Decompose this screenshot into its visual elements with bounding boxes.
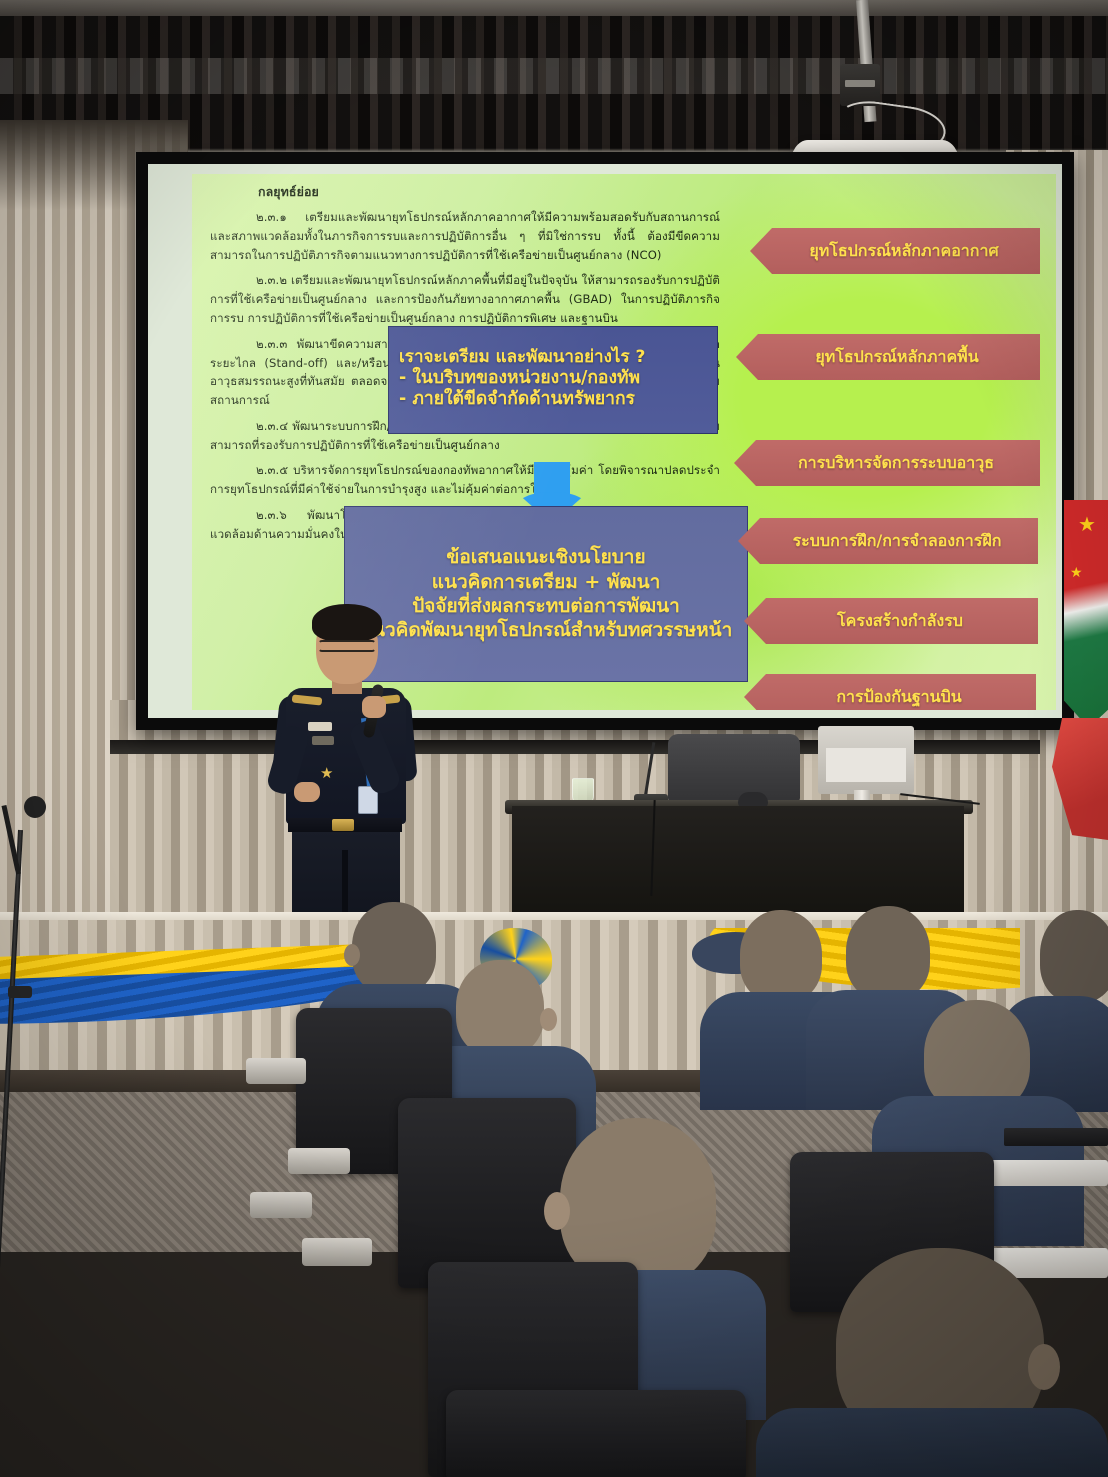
chair-armrest [288, 1148, 350, 1174]
audience-head [352, 902, 436, 994]
audience-desk-edge [1004, 1128, 1108, 1146]
ceiling-curtain-band [0, 58, 1108, 94]
presenter-rank-insignia [308, 722, 332, 731]
photo-scene: EPSON กลยุทธ์ย่อย ๒.๓.๑ เตรียมและพัฒนายุ… [0, 0, 1108, 1477]
audience-ear [1028, 1344, 1060, 1390]
presenter-mic-hand [362, 696, 386, 718]
callout-policy-line: ข้อเสนอแนะเชิงนโยบาย [446, 545, 645, 569]
audience-ear [540, 1008, 557, 1031]
slide-paragraph: ๒.๓.๒ เตรียมและพัฒนายุทโธปกรณ์หลักภาคพื้… [210, 271, 720, 327]
slide-banner-airbase-defense: การป้องกันฐานบิน [744, 674, 1036, 710]
chair-armrest [250, 1192, 312, 1218]
audience-head [456, 960, 544, 1056]
microphone-head-icon [24, 796, 46, 818]
flag-star-icon: ★ [1078, 514, 1096, 534]
slide-banner-air-equipment: ยุทโธปกรณ์หลักภาคอากาศ [750, 228, 1040, 274]
presenter-star-icon: ★ [320, 766, 334, 780]
audience-head [740, 910, 822, 1002]
callout-question-line: - ภายใต้ขีดจำกัดด้านทรัพยากร [399, 389, 709, 411]
presenter-speaker: ★ [258, 600, 428, 930]
presenter-belt-buckle [332, 819, 354, 831]
projector-junction-box [840, 64, 880, 106]
audience-shoulders [756, 1408, 1108, 1477]
callout-policy-line: ปัจจัยที่ส่งผลกระทบต่อการพัฒนา [412, 594, 680, 618]
national-flag: ★ ★ [1064, 500, 1108, 728]
presenter-glasses [318, 640, 376, 652]
audience-head [1040, 910, 1108, 1002]
slide-banner-weapon-management: การบริหารจัดการระบบอาวุธ [734, 440, 1040, 486]
audience-ear [344, 944, 360, 966]
chair-armrest [246, 1058, 306, 1084]
presenter-name-badge [312, 736, 334, 745]
ceiling-lip [0, 0, 1108, 16]
junction-box-label [845, 80, 875, 87]
slide-paragraph: ๒.๓.๕ บริหารจัดการยุทโธปกรณ์ของกองทัพอาก… [210, 461, 720, 499]
flag-star-icon: ★ [1070, 566, 1083, 580]
chair-armrest [302, 1238, 372, 1266]
callout-question-line: เราจะเตรียม และพัฒนาอย่างไร ? [399, 347, 709, 368]
audience-chair [446, 1390, 746, 1477]
slide-banner-training-system: ระบบการฝึก/การจำลองการฝึก [738, 518, 1038, 564]
slide-heading: กลยุทธ์ย่อย [258, 182, 720, 202]
slide-banner-ground-equipment: ยุทโธปกรณ์หลักภาคพื้น [736, 334, 1040, 380]
desk-monitor [818, 726, 914, 794]
presenter-hair [312, 604, 382, 642]
callout-question-line: - ในบริบทของหน่วยงาน/กองทัพ [399, 368, 709, 390]
audience-head [846, 906, 930, 1000]
audience-ear [544, 1192, 570, 1230]
presenter-free-hand [294, 782, 320, 802]
slide-callout-question: เราจะเตรียม และพัฒนาอย่างไร ? - ในบริบทข… [388, 326, 718, 434]
monitor-screen [826, 748, 906, 782]
arrow-shaft [534, 462, 570, 494]
callout-policy-line: แนวคิดการเตรียม + พัฒนา [432, 570, 661, 594]
audience-head [560, 1118, 716, 1286]
audience-chair [398, 1098, 576, 1288]
microphone-stand-clamp [8, 986, 32, 998]
slide-banner-force-structure: โครงสร้างกำลังรบ [744, 598, 1038, 644]
stage-chair [668, 734, 800, 802]
slide-paragraph: ๒.๓.๑ เตรียมและพัฒนายุทโธปกรณ์หลักภาคอาก… [210, 208, 720, 264]
